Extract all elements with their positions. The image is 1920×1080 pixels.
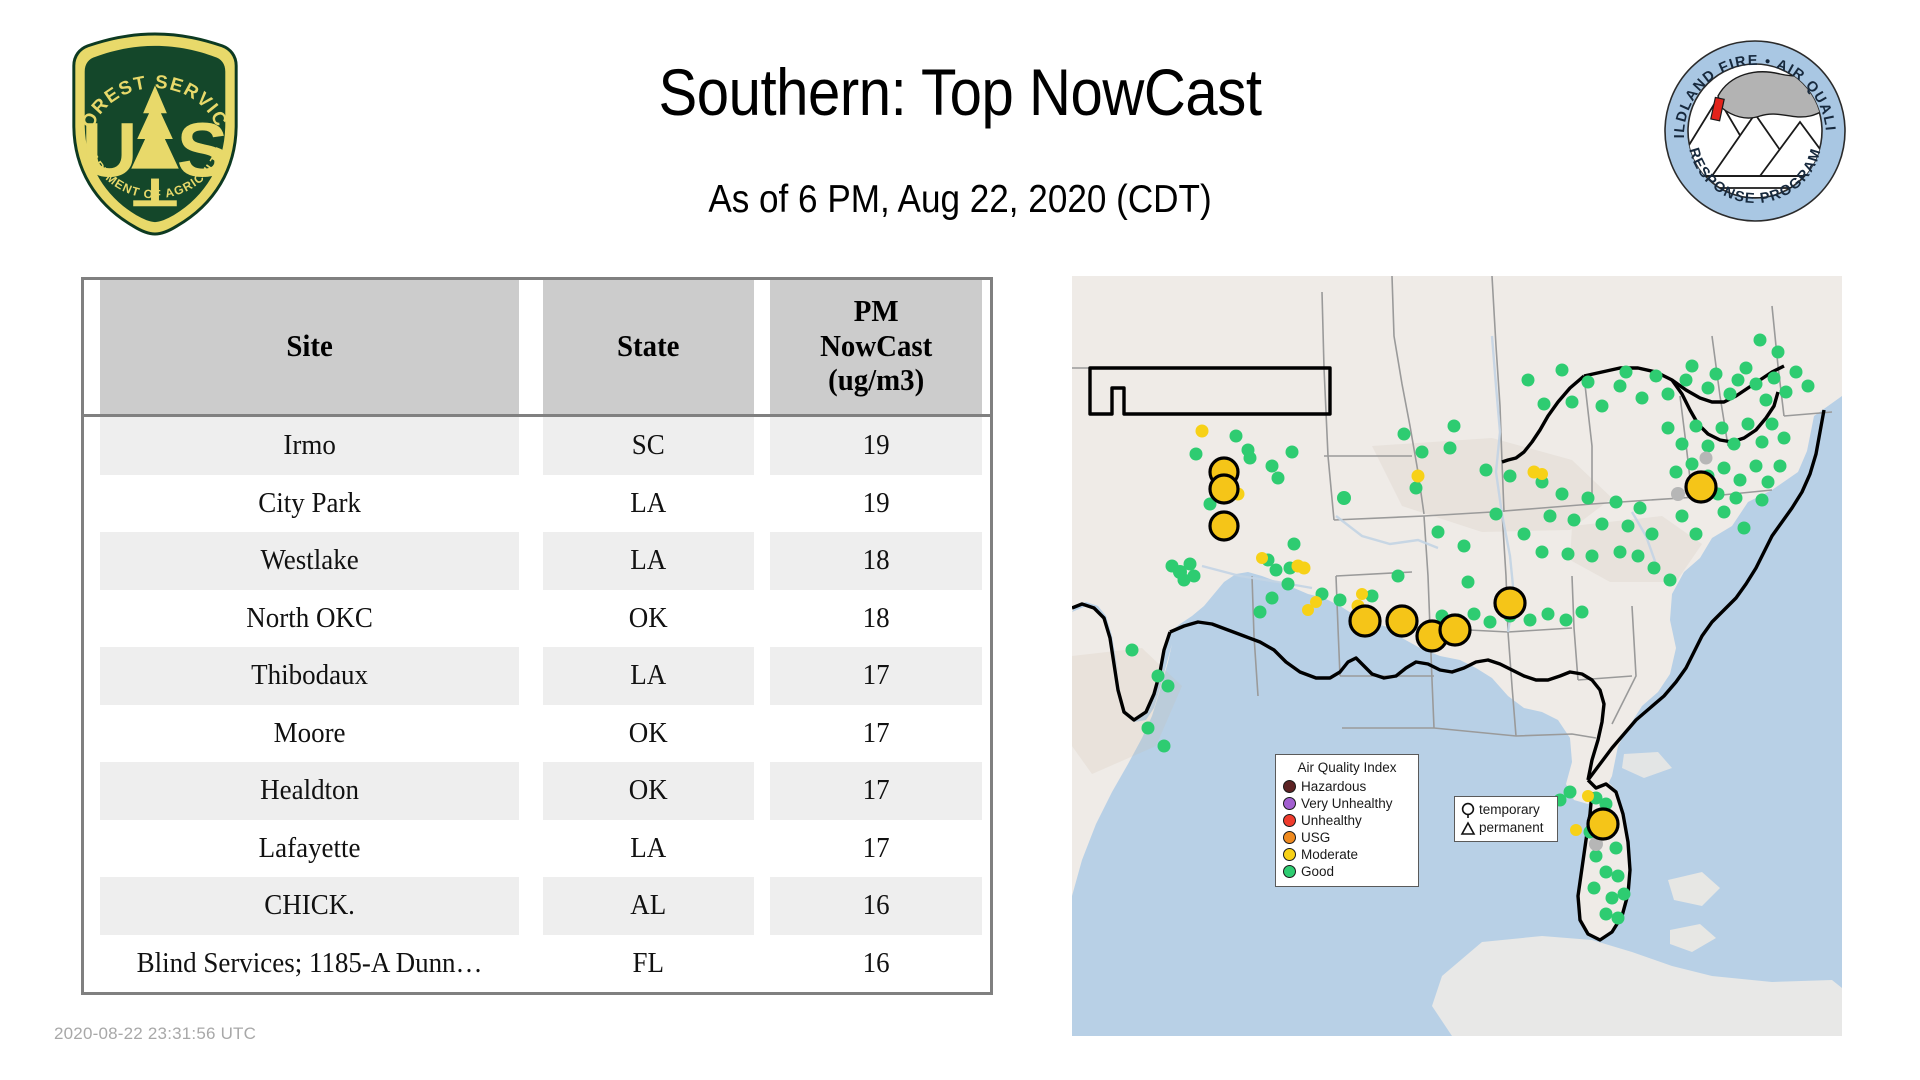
cell-site: City Park <box>100 475 520 533</box>
table-row: HealdtonOK17 <box>84 762 990 820</box>
map-marker-westlake <box>1350 606 1380 636</box>
cell-state: LA <box>543 475 754 533</box>
cell-site: Moore <box>100 705 520 763</box>
footer-timestamp: 2020-08-22 23:31:56 UTC <box>54 1024 256 1044</box>
usfs-logo-letter-s: S <box>177 108 229 194</box>
column-header-pm-line3: (ug/m3) <box>773 363 978 398</box>
map-legend-aqi-row: Very Unhealthy <box>1283 795 1411 812</box>
cell-pm-nowcast: 17 <box>770 820 982 878</box>
map-legend-site-type: temporary permanent <box>1454 796 1558 842</box>
page-subtitle: As of 6 PM, Aug 22, 2020 (CDT) <box>366 178 1554 222</box>
map-marker-healdton <box>1210 512 1238 540</box>
table-row: CHICK.AL16 <box>84 877 990 935</box>
column-header-pm-nowcast: PM NowCast (ug/m3) <box>770 280 982 416</box>
cell-pm-nowcast: 17 <box>770 762 982 820</box>
aqi-swatch-icon <box>1283 797 1296 810</box>
map-marker-blind-services <box>1588 809 1618 839</box>
table-row: North OKCOK18 <box>84 590 990 648</box>
map-marker-lafayette <box>1387 606 1417 636</box>
cell-site: Thibodaux <box>100 647 520 705</box>
temporary-circle-icon <box>1460 802 1476 819</box>
map-legend-aqi-label: Hazardous <box>1301 780 1366 794</box>
table-row: WestlakeLA18 <box>84 532 990 590</box>
cell-pm-nowcast: 18 <box>770 532 982 590</box>
map-legend-aqi-row: Hazardous <box>1283 778 1411 795</box>
cell-state: LA <box>543 532 754 590</box>
cell-state: OK <box>543 705 754 763</box>
cell-state: OK <box>543 762 754 820</box>
aqi-swatch-icon <box>1283 865 1296 878</box>
cell-site: Healdton <box>100 762 520 820</box>
column-header-state: State <box>543 280 754 416</box>
map-marker-moore <box>1210 475 1238 503</box>
cell-site: North OKC <box>100 590 520 648</box>
map-legend-aqi-label: USG <box>1301 831 1330 845</box>
cell-pm-nowcast: 16 <box>770 935 982 993</box>
cell-state: LA <box>543 820 754 878</box>
map-legend-aqi-row: Unhealthy <box>1283 812 1411 829</box>
map-legend-aqi-label: Good <box>1301 865 1334 879</box>
table-row: LafayetteLA17 <box>84 820 990 878</box>
wfaqrp-program-logo: WILDLAND FIRE • AIR QUALITY RESPONSE PRO… <box>1660 36 1850 226</box>
map-marker-irmo <box>1686 472 1716 502</box>
cell-pm-nowcast: 16 <box>770 877 982 935</box>
cell-pm-nowcast: 18 <box>770 590 982 648</box>
cell-site: Lafayette <box>100 820 520 878</box>
map-legend-aqi: Air Quality Index HazardousVery Unhealth… <box>1275 754 1419 887</box>
cell-state: FL <box>543 935 754 993</box>
map-marker-city-park <box>1440 615 1470 645</box>
page-title: Southern: Top NowCast <box>379 54 1541 130</box>
cell-site: CHICK. <box>100 877 520 935</box>
table-row: ThibodauxLA17 <box>84 647 990 705</box>
cell-pm-nowcast: 19 <box>770 475 982 533</box>
cell-site: Blind Services; 1185-A Dunn… <box>100 935 520 993</box>
map-legend-aqi-label: Very Unhealthy <box>1301 797 1393 811</box>
cell-site: Westlake <box>100 532 520 590</box>
map-legend-temporary-label: temporary <box>1479 803 1540 817</box>
map-legend-aqi-row: Moderate <box>1283 846 1411 863</box>
column-header-site: Site <box>100 280 520 416</box>
map-marker-chick <box>1495 588 1525 618</box>
aqi-swatch-icon <box>1283 848 1296 861</box>
usfs-forest-service-logo: FOREST SERVICE DEPARTMENT OF AGRICULTURE… <box>56 30 254 238</box>
usfs-logo-letter-u: U <box>82 108 138 194</box>
table-header-row: Site State PM NowCast (ug/m3) <box>84 280 990 416</box>
table-row: City ParkLA19 <box>84 475 990 533</box>
cell-pm-nowcast: 19 <box>770 416 982 475</box>
aqi-swatch-icon <box>1283 780 1296 793</box>
top-nowcast-table: Site State PM NowCast (ug/m3) IrmoSC19Ci… <box>81 277 993 995</box>
column-header-pm-line1: PM <box>773 294 978 329</box>
cell-pm-nowcast: 17 <box>770 705 982 763</box>
cell-state: SC <box>543 416 754 475</box>
map-legend-aqi-row: USG <box>1283 829 1411 846</box>
column-header-pm-line2: NowCast <box>773 329 978 364</box>
aqi-swatch-icon <box>1283 814 1296 827</box>
cell-site: Irmo <box>100 416 520 475</box>
map-legend-aqi-label: Unhealthy <box>1301 814 1362 828</box>
table-row: Blind Services; 1185-A Dunn…FL16 <box>84 935 990 993</box>
cell-state: OK <box>543 590 754 648</box>
map-legend-aqi-label: Moderate <box>1301 848 1358 862</box>
table-row: MooreOK17 <box>84 705 990 763</box>
cell-state: AL <box>543 877 754 935</box>
map-legend-permanent-label: permanent <box>1479 821 1544 835</box>
map-legend-temporary-row: temporary <box>1460 801 1552 819</box>
map-legend-aqi-row: Good <box>1283 863 1411 880</box>
map-legend-aqi-title: Air Quality Index <box>1283 760 1411 775</box>
aqi-swatch-icon <box>1283 831 1296 844</box>
table-row: IrmoSC19 <box>84 416 990 475</box>
permanent-triangle-icon <box>1460 820 1476 837</box>
map-legend-permanent-row: permanent <box>1460 819 1552 837</box>
cell-state: LA <box>543 647 754 705</box>
aqi-monitor-map[interactable]: Air Quality Index HazardousVery Unhealth… <box>1072 276 1842 1036</box>
cell-pm-nowcast: 17 <box>770 647 982 705</box>
